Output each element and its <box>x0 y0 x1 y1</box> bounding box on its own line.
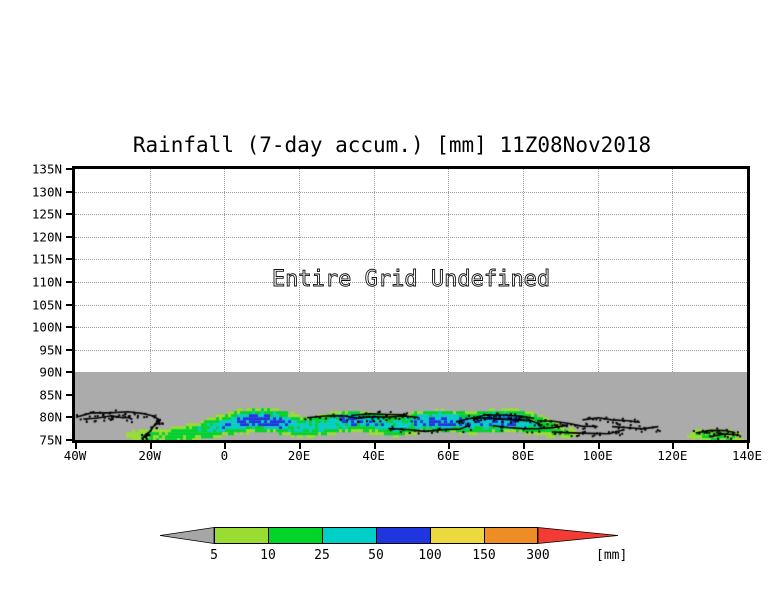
chart-title: Rainfall (7-day accum.) [mm] 11Z08Nov201… <box>0 133 784 157</box>
x-axis-label: 0 <box>221 448 229 463</box>
colorbar-boundary-label: 300 <box>526 548 549 563</box>
y-axis-tick <box>66 191 72 193</box>
y-axis-tick <box>66 236 72 238</box>
x-axis-tick <box>448 443 450 449</box>
x-axis-tick <box>374 443 376 449</box>
x-axis-tick <box>75 443 77 449</box>
y-axis-tick <box>66 349 72 351</box>
rainfall-raster <box>75 169 747 440</box>
colorbar-band <box>214 527 268 544</box>
colorbar-boundary-label: 100 <box>418 548 441 563</box>
y-axis-label: 90N <box>39 365 62 380</box>
y-axis-tick <box>66 258 72 260</box>
y-axis-label: 105N <box>32 297 62 312</box>
y-axis-label: 115N <box>32 252 62 267</box>
x-axis-label: 20E <box>288 448 311 463</box>
y-axis-label: 80N <box>39 410 62 425</box>
y-axis: 135N130N125N120N115N110N105N100N95N90N85… <box>0 166 70 443</box>
colorbar-boundary-label: 25 <box>314 548 330 563</box>
x-axis-tick <box>598 443 600 449</box>
y-axis-tick <box>66 213 72 215</box>
y-axis-label: 95N <box>39 342 62 357</box>
x-axis-label: 60E <box>437 448 460 463</box>
y-axis-tick <box>66 394 72 396</box>
y-axis-label: 100N <box>32 320 62 335</box>
y-axis-tick <box>66 326 72 328</box>
y-axis-label: 125N <box>32 207 62 222</box>
x-axis-label: 40W <box>64 448 87 463</box>
plot-canvas <box>75 169 747 440</box>
x-axis-tick <box>672 443 674 449</box>
y-axis-label: 75N <box>39 433 62 448</box>
x-axis-label: 20W <box>138 448 161 463</box>
colorbar-bands <box>214 527 538 544</box>
x-axis: 40W20W020E40E60E80E100E120E140E <box>72 448 750 472</box>
colorbar-boundary-label: 50 <box>368 548 384 563</box>
undefined-grid-message: Entire Grid Undefined <box>75 267 747 292</box>
colorbar-boundary-label: 10 <box>260 548 276 563</box>
x-axis-label: 100E <box>583 448 613 463</box>
y-axis-label: 110N <box>32 274 62 289</box>
x-axis-tick <box>299 443 301 449</box>
x-axis-label: 140E <box>732 448 762 463</box>
y-axis-label: 85N <box>39 387 62 402</box>
y-axis-label: 120N <box>32 229 62 244</box>
x-axis-label: 80E <box>512 448 535 463</box>
y-axis-tick <box>66 439 72 441</box>
colorbar-band <box>430 527 484 544</box>
y-axis-label: 135N <box>32 162 62 177</box>
colorbar-boundary-label: 150 <box>472 548 495 563</box>
colorbar-unit-label: [mm] <box>596 548 627 563</box>
x-axis-tick <box>150 443 152 449</box>
colorbar-band <box>484 527 538 544</box>
x-axis-tick <box>747 443 749 449</box>
x-axis-tick <box>523 443 525 449</box>
y-axis-tick <box>66 416 72 418</box>
x-axis-tick <box>224 443 226 449</box>
y-axis-label: 130N <box>32 184 62 199</box>
y-axis-tick <box>66 304 72 306</box>
y-axis-tick <box>66 281 72 283</box>
colorbar: 5102550100150300 [mm] <box>160 524 640 570</box>
colorbar-band <box>322 527 376 544</box>
x-axis-label: 120E <box>657 448 687 463</box>
x-axis-label: 40E <box>362 448 385 463</box>
y-axis-tick <box>66 371 72 373</box>
colorbar-right-arrow <box>538 527 618 544</box>
colorbar-band <box>268 527 322 544</box>
colorbar-left-arrow <box>160 527 214 544</box>
colorbar-band <box>376 527 430 544</box>
y-axis-tick <box>66 168 72 170</box>
colorbar-tick-labels: 5102550100150300 <box>160 548 640 568</box>
colorbar-boundary-label: 5 <box>210 548 218 563</box>
plot-area: Entire Grid Undefined <box>72 166 750 443</box>
